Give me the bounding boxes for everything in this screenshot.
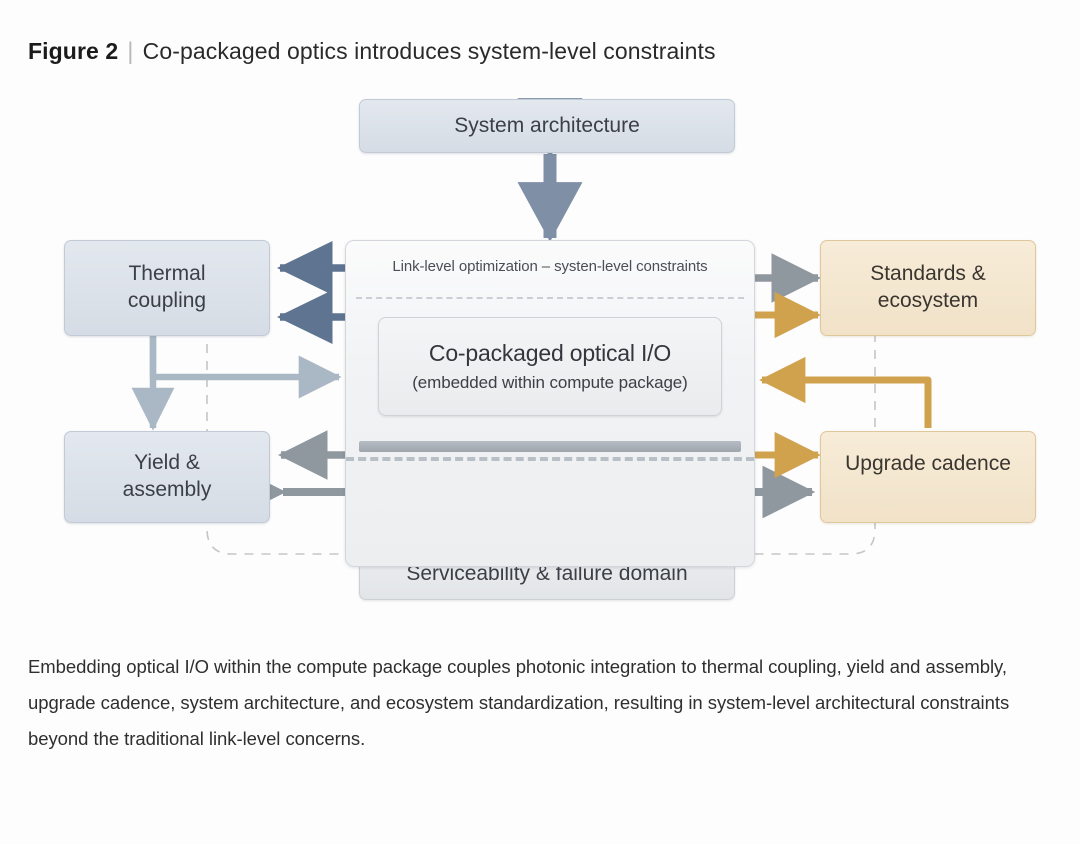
node-system-architecture[interactable]: System architecture <box>359 99 735 153</box>
node-standards-ecosystem[interactable]: Standards & ecosystem <box>820 240 1036 336</box>
node-yield-assembly-label: Yield & assembly <box>123 450 212 504</box>
center-divider-bottom <box>346 457 754 461</box>
node-standards-ecosystem-label: Standards & ecosystem <box>870 261 986 315</box>
node-yield-assembly[interactable]: Yield & assembly <box>64 431 270 523</box>
copackaged-optical-io-title: Co-packaged optical I/O <box>429 340 671 368</box>
node-upgrade-cadence[interactable]: Upgrade cadence <box>820 431 1036 523</box>
copackaged-optical-io-subtitle: (embedded within compute package) <box>412 373 687 393</box>
node-center-package[interactable]: Link-level optimization – systen-level c… <box>345 240 755 567</box>
arrow-standards-to-center <box>762 380 928 428</box>
node-thermal-coupling[interactable]: Thermal coupling <box>64 240 270 336</box>
title-separator: | <box>127 38 133 66</box>
figure-title: Figure 2 | Co-packaged optics introduces… <box>28 38 716 66</box>
node-system-architecture-label: System architecture <box>454 113 640 140</box>
figure-title-text: Co-packaged optics introduces system-lev… <box>143 38 716 65</box>
node-upgrade-cadence-label: Upgrade cadence <box>845 451 1011 478</box>
package-substrate-bar <box>359 441 741 452</box>
center-package-caption: Link-level optimization – systen-level c… <box>346 258 754 275</box>
figure-caption: Embedding optical I/O within the compute… <box>28 649 1050 757</box>
figure-number: Figure 2 <box>28 38 118 65</box>
node-thermal-coupling-label: Thermal coupling <box>128 261 206 315</box>
diagram-canvas: System architecture Thermal coupling Yie… <box>0 86 1080 606</box>
center-divider-top <box>356 297 744 299</box>
node-copackaged-optical-io[interactable]: Co-packaged optical I/O (embedded within… <box>378 317 722 416</box>
figure-page: Figure 2 | Co-packaged optics introduces… <box>0 0 1080 844</box>
